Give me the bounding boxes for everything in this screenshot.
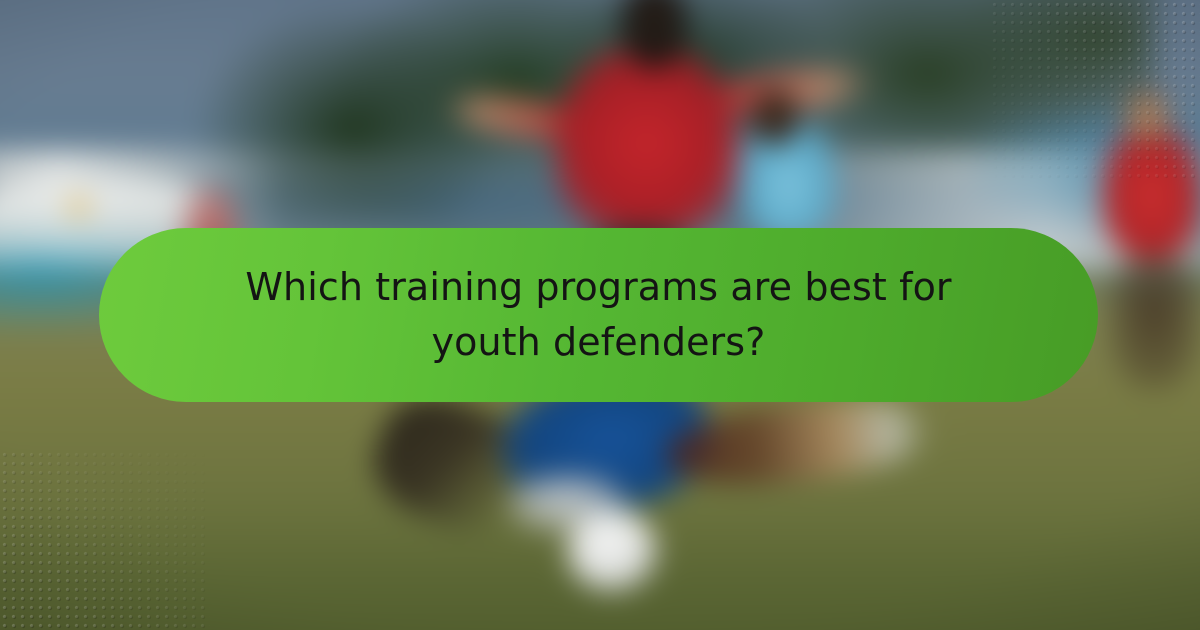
question-text: Which training programs are best for you… — [219, 260, 979, 369]
question-card: Which training programs are best for you… — [0, 0, 1200, 630]
question-pill: Which training programs are best for you… — [99, 228, 1098, 402]
